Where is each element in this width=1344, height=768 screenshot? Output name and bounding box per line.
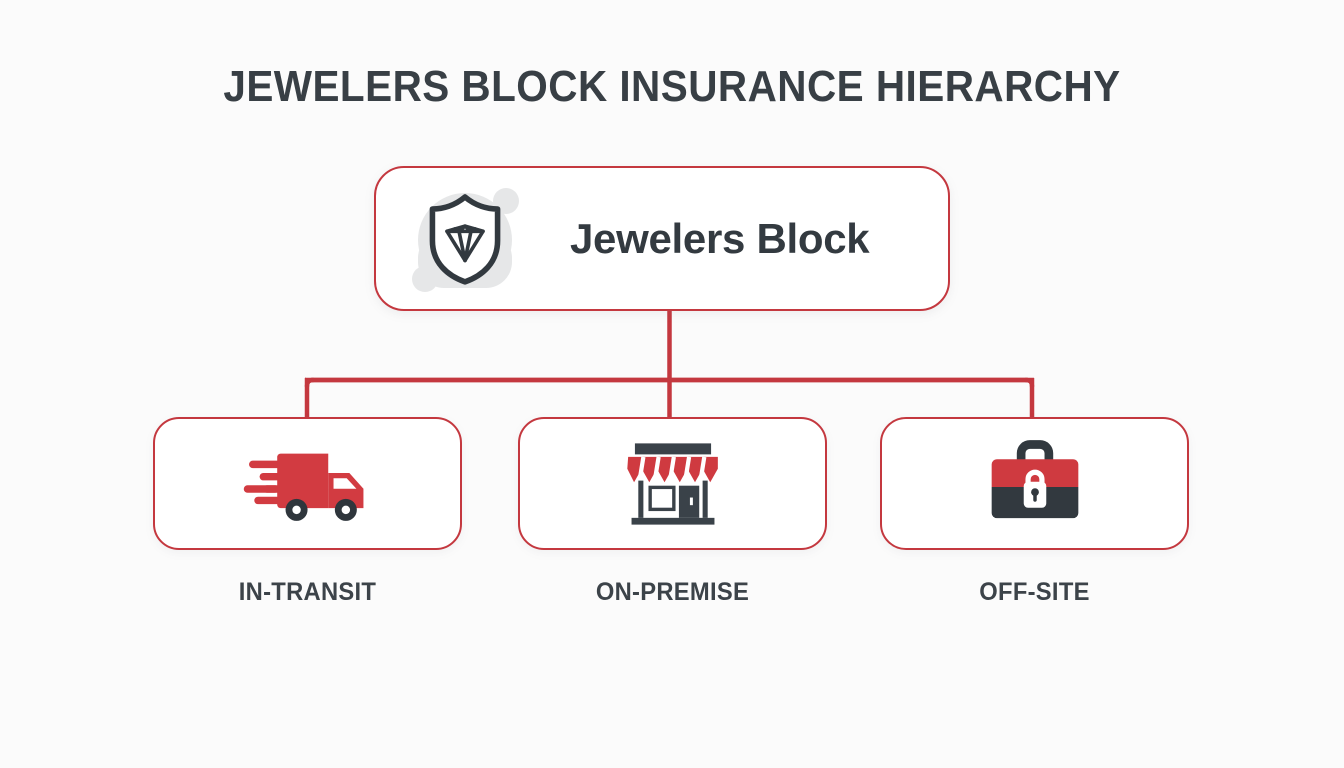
child-node-off-site[interactable]: [880, 417, 1189, 550]
child-label-off-site: OFF-SITE: [888, 578, 1182, 607]
root-icon-wrapper: [406, 180, 524, 298]
root-node-jewelers-block[interactable]: Jewelers Block: [374, 166, 950, 311]
storefront-icon: [618, 440, 728, 528]
child-label-in-transit: IN-TRANSIT: [161, 578, 455, 607]
child-label-on-premise: ON-PREMISE: [526, 578, 820, 607]
root-node-label: Jewelers Block: [570, 215, 869, 263]
diagram-canvas: JEWELERS BLOCK INSURANCE HIERARCHY: [0, 0, 1344, 768]
connector-lines: [0, 0, 1344, 768]
shield-diamond-icon: [422, 191, 508, 287]
child-node-on-premise[interactable]: [518, 417, 827, 550]
delivery-truck-icon: [242, 443, 374, 524]
child-node-in-transit[interactable]: [153, 417, 462, 550]
locked-briefcase-icon: [983, 440, 1087, 527]
